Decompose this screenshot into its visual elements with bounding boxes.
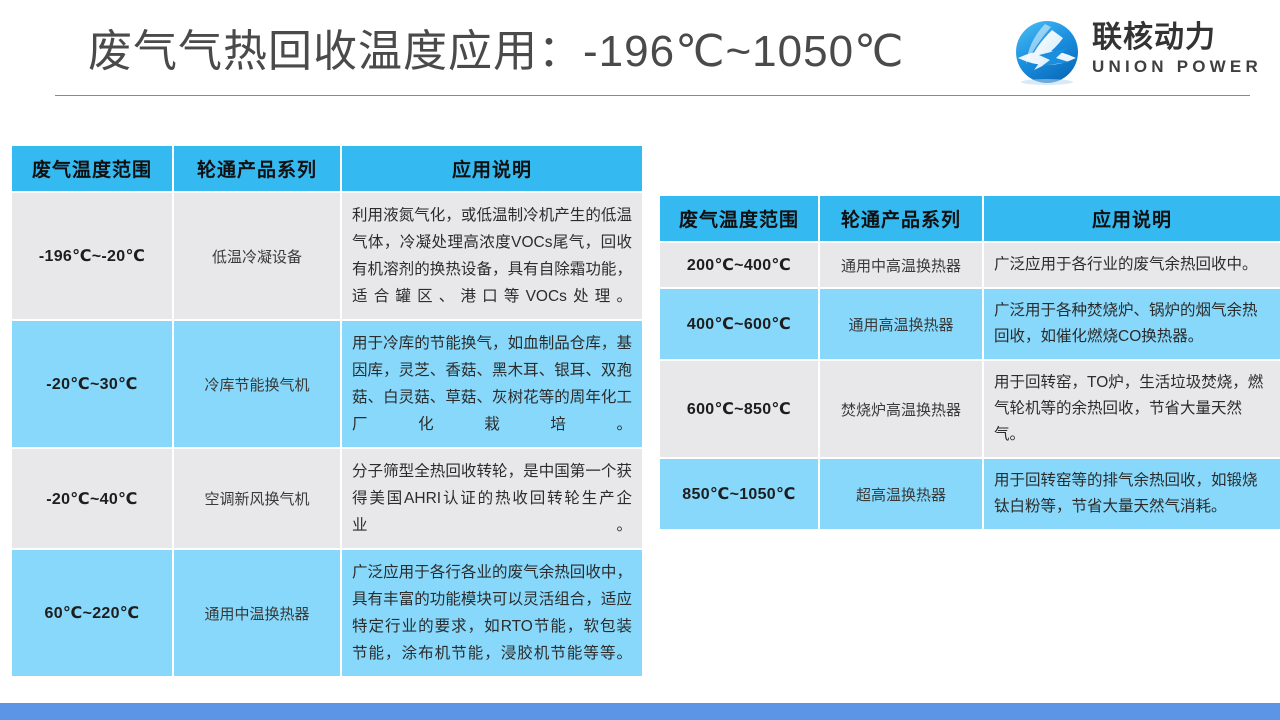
page-title: 废气气热回收温度应用：-196℃~1050℃ bbox=[88, 24, 904, 80]
cell-temperature-range: 200℃~400℃ bbox=[660, 243, 818, 287]
column-header-description: 应用说明 bbox=[984, 196, 1280, 241]
cell-description: 分子筛型全热回收转轮，是中国第一个获得美国AHRI认证的热收回转轮生产企业。 bbox=[342, 449, 642, 548]
table-row: -20℃~40℃ 空调新风换气机 分子筛型全热回收转轮，是中国第一个获得美国AH… bbox=[12, 449, 642, 548]
cell-product-series: 超高温换热器 bbox=[820, 459, 982, 529]
table-row: -196℃~-20℃ 低温冷凝设备 利用液氮气化，或低温制冷机产生的低温气体，冷… bbox=[12, 193, 642, 319]
cell-product-series: 通用高温换热器 bbox=[820, 289, 982, 359]
cell-description: 用于回转窑等的排气余热回收，如锻烧钛白粉等，节省大量天然气消耗。 bbox=[984, 459, 1280, 529]
cell-description: 广泛应用于各行业的废气余热回收中。 bbox=[984, 243, 1280, 287]
table-row: 400℃~600℃ 通用高温换热器 广泛用于各种焚烧炉、锅炉的烟气余热回收，如催… bbox=[660, 289, 1280, 359]
cell-product-series: 空调新风换气机 bbox=[174, 449, 340, 548]
column-header-series: 轮通产品系列 bbox=[820, 196, 982, 241]
cell-description: 利用液氮气化，或低温制冷机产生的低温气体，冷凝处理高浓度VOCs尾气，回收有机溶… bbox=[342, 193, 642, 319]
footer-accent-bar bbox=[0, 703, 1280, 720]
table-row: 60℃~220℃ 通用中温换热器 广泛应用于各行各业的废气余热回收中，具有丰富的… bbox=[12, 550, 642, 676]
cell-description: 广泛用于各种焚烧炉、锅炉的烟气余热回收，如催化燃烧CO换热器。 bbox=[984, 289, 1280, 359]
temperature-application-table-right: 废气温度范围 轮通产品系列 应用说明 200℃~400℃ 通用中高温换热器 广泛… bbox=[658, 194, 1280, 531]
cell-product-series: 焚烧炉高温换热器 bbox=[820, 361, 982, 457]
cell-product-series: 通用中高温换热器 bbox=[820, 243, 982, 287]
table-header-row: 废气温度范围 轮通产品系列 应用说明 bbox=[12, 146, 642, 191]
logo-name-en: UNION POWER bbox=[1092, 56, 1264, 78]
cell-temperature-range: -196℃~-20℃ bbox=[12, 193, 172, 319]
cell-description: 广泛应用于各行各业的废气余热回收中，具有丰富的功能模块可以灵活组合，适应特定行业… bbox=[342, 550, 642, 676]
union-power-globe-icon bbox=[1012, 18, 1082, 88]
table-header-row: 废气温度范围 轮通产品系列 应用说明 bbox=[660, 196, 1280, 241]
temperature-application-table-left: 废气温度范围 轮通产品系列 应用说明 -196℃~-20℃ 低温冷凝设备 利用液… bbox=[10, 144, 644, 678]
cell-product-series: 冷库节能换气机 bbox=[174, 321, 340, 447]
column-header-description: 应用说明 bbox=[342, 146, 642, 191]
cell-product-series: 低温冷凝设备 bbox=[174, 193, 340, 319]
logo-text-block: 联核动力 UNION POWER bbox=[1092, 20, 1264, 78]
column-header-series: 轮通产品系列 bbox=[174, 146, 340, 191]
table-row: 600℃~850℃ 焚烧炉高温换热器 用于回转窑，TO炉，生活垃圾焚烧，燃气轮机… bbox=[660, 361, 1280, 457]
table-row: -20℃~30℃ 冷库节能换气机 用于冷库的节能换气，如血制品仓库，基因库，灵芝… bbox=[12, 321, 642, 447]
cell-description: 用于冷库的节能换气，如血制品仓库，基因库，灵芝、香菇、黑木耳、银耳、双孢菇、白灵… bbox=[342, 321, 642, 447]
slide-header: 废气气热回收温度应用：-196℃~1050℃ bbox=[0, 0, 1280, 100]
brand-logo: 联核动力 UNION POWER bbox=[1012, 18, 1262, 88]
cell-temperature-range: 400℃~600℃ bbox=[660, 289, 818, 359]
title-divider bbox=[55, 95, 1250, 96]
column-header-range: 废气温度范围 bbox=[660, 196, 818, 241]
column-header-range: 废气温度范围 bbox=[12, 146, 172, 191]
cell-temperature-range: -20℃~40℃ bbox=[12, 449, 172, 548]
cell-description: 用于回转窑，TO炉，生活垃圾焚烧，燃气轮机等的余热回收，节省大量天然气。 bbox=[984, 361, 1280, 457]
cell-temperature-range: 600℃~850℃ bbox=[660, 361, 818, 457]
cell-temperature-range: 850℃~1050℃ bbox=[660, 459, 818, 529]
cell-temperature-range: 60℃~220℃ bbox=[12, 550, 172, 676]
cell-temperature-range: -20℃~30℃ bbox=[12, 321, 172, 447]
cell-product-series: 通用中温换热器 bbox=[174, 550, 340, 676]
table-row: 200℃~400℃ 通用中高温换热器 广泛应用于各行业的废气余热回收中。 bbox=[660, 243, 1280, 287]
table-row: 850℃~1050℃ 超高温换热器 用于回转窑等的排气余热回收，如锻烧钛白粉等，… bbox=[660, 459, 1280, 529]
logo-name-cn: 联核动力 bbox=[1092, 20, 1264, 56]
